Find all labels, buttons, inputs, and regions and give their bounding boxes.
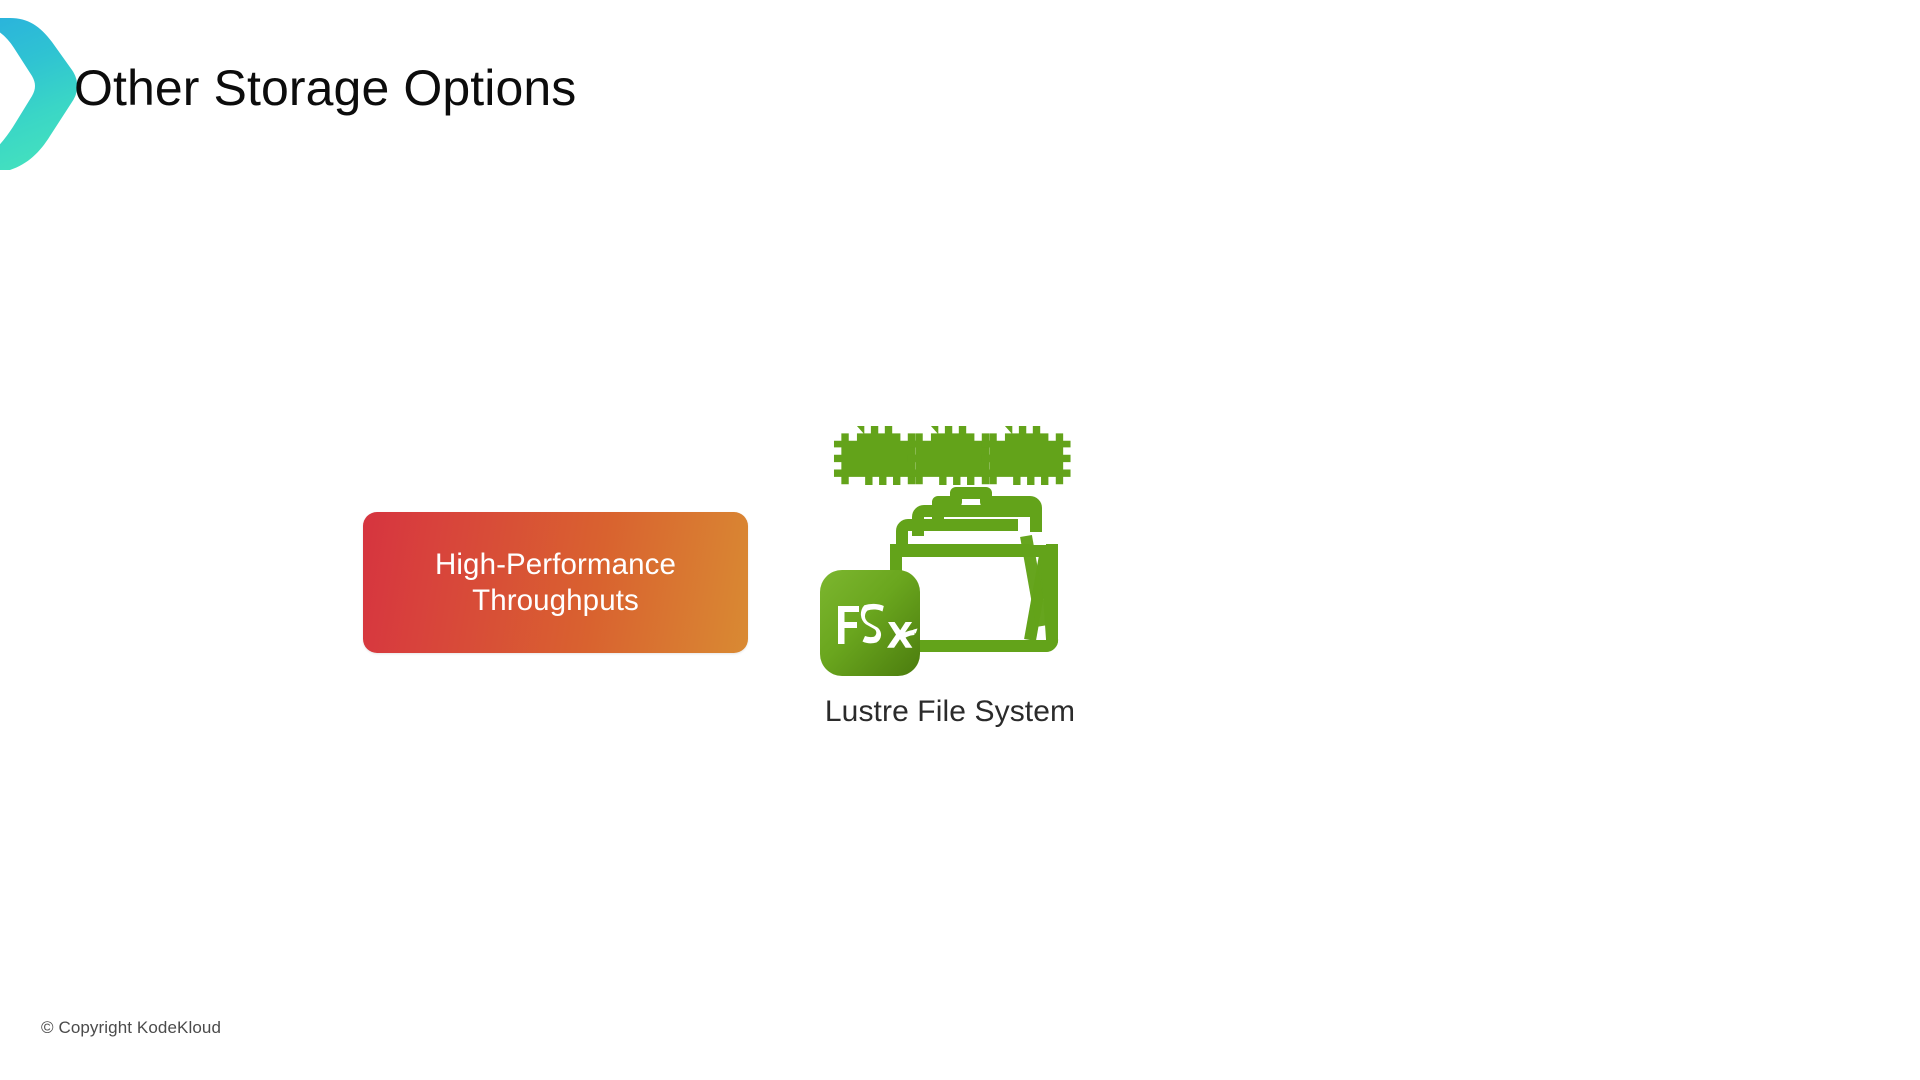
cpu-chip-icon [982, 426, 1071, 485]
aws-fsx-lustre-icon [820, 418, 1082, 688]
page-title: Other Storage Options [74, 63, 576, 113]
fsx-badge [820, 570, 920, 676]
callout-label-line-2: Throughputs [472, 584, 639, 617]
lustre-file-system-group: Lustre File System [820, 418, 1160, 766]
callout-label: High-Performance Throughputs [419, 547, 692, 619]
chevron-right-logo-icon [0, 18, 78, 170]
callout-label-line-1: High-Performance [435, 548, 676, 581]
high-performance-throughputs-callout: High-Performance Throughputs [363, 512, 748, 653]
cpu-chip-row [834, 426, 1071, 485]
footer-copyright: © Copyright KodeKloud [41, 1018, 221, 1038]
service-caption: Lustre File System [690, 695, 1210, 729]
slide-canvas: Other Storage Options High-Performance T… [0, 0, 1920, 1080]
